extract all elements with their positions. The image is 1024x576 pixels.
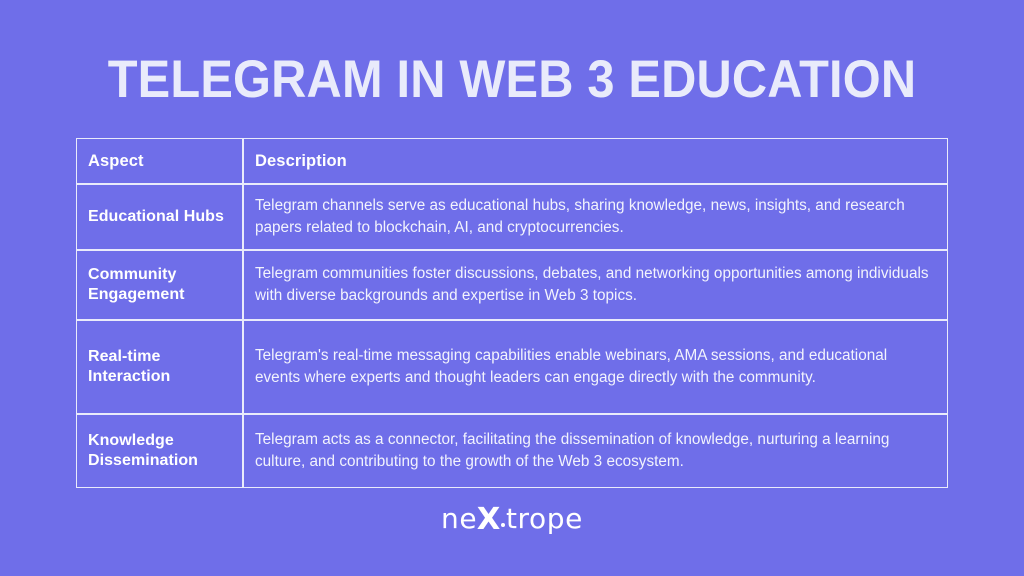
info-table-container: Aspect Description Educational Hubs Tele… bbox=[76, 138, 948, 488]
row-aspect-label: Real-time Interaction bbox=[88, 347, 230, 388]
table-header-cell-aspect: Aspect bbox=[76, 138, 243, 184]
page-title: TELEGRAM IN WEB 3 EDUCATION bbox=[41, 49, 983, 111]
column-header-description: Description bbox=[255, 151, 935, 171]
table-row: Community Engagement Telegram communitie… bbox=[76, 250, 948, 320]
logo-dot-icon bbox=[501, 523, 505, 527]
info-table: Aspect Description Educational Hubs Tele… bbox=[76, 138, 948, 488]
table-cell-aspect: Knowledge Dissemination bbox=[76, 414, 243, 488]
logo-text-before: ne bbox=[441, 502, 477, 535]
table-row: Educational Hubs Telegram channels serve… bbox=[76, 184, 948, 250]
table-header-row: Aspect Description bbox=[76, 138, 948, 184]
footer-logo: neXtrope bbox=[0, 502, 1024, 542]
table-cell-description: Telegram channels serve as educational h… bbox=[243, 184, 948, 250]
table-row: Real-time Interaction Telegram's real-ti… bbox=[76, 320, 948, 414]
row-aspect-label: Educational Hubs bbox=[88, 207, 230, 228]
table-row: Knowledge Dissemination Telegram acts as… bbox=[76, 414, 948, 488]
slide-canvas: TELEGRAM IN WEB 3 EDUCATION Aspect Descr… bbox=[0, 0, 1024, 576]
table-cell-description: Telegram communities foster discussions,… bbox=[243, 250, 948, 320]
table-cell-aspect: Community Engagement bbox=[76, 250, 243, 320]
table-cell-description: Telegram's real-time messaging capabilit… bbox=[243, 320, 948, 414]
row-description-text: Telegram acts as a connector, facilitati… bbox=[255, 429, 935, 474]
table-cell-aspect: Educational Hubs bbox=[76, 184, 243, 250]
row-aspect-label: Community Engagement bbox=[88, 265, 230, 306]
row-description-text: Telegram channels serve as educational h… bbox=[255, 195, 935, 240]
table-cell-aspect: Real-time Interaction bbox=[76, 320, 243, 414]
table-header-cell-description: Description bbox=[243, 138, 948, 184]
logo-letter-x: X bbox=[477, 503, 501, 537]
table-cell-description: Telegram acts as a connector, facilitati… bbox=[243, 414, 948, 488]
row-description-text: Telegram communities foster discussions,… bbox=[255, 263, 935, 308]
row-description-text: Telegram's real-time messaging capabilit… bbox=[255, 345, 935, 390]
nextrope-logo: neXtrope bbox=[441, 502, 583, 536]
row-aspect-label: Knowledge Dissemination bbox=[88, 431, 230, 472]
column-header-aspect: Aspect bbox=[88, 151, 230, 171]
logo-text-after: trope bbox=[506, 502, 583, 535]
